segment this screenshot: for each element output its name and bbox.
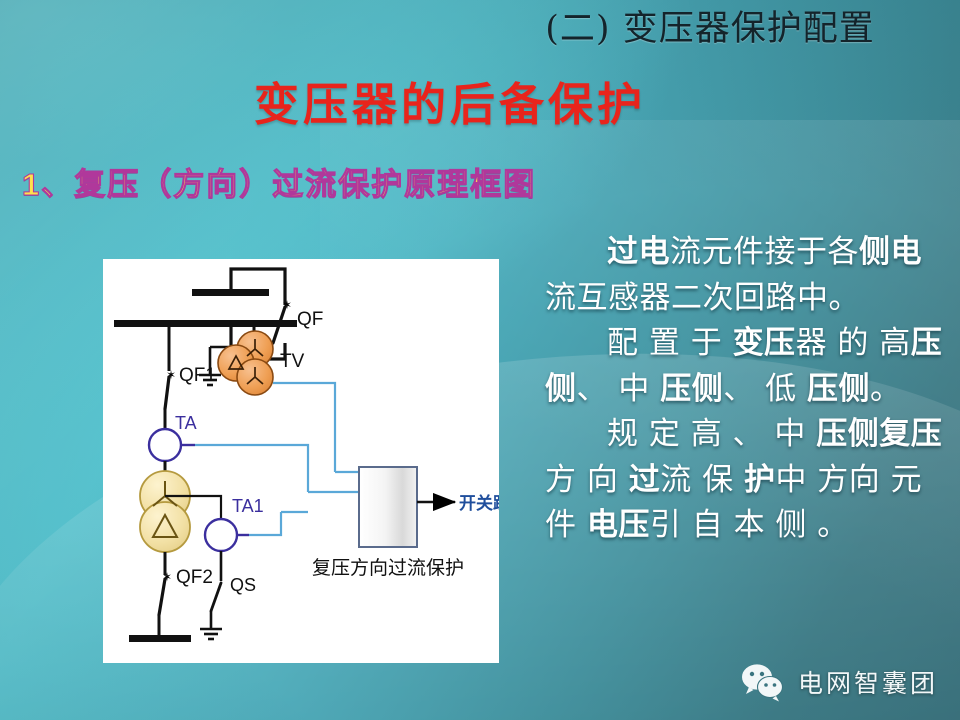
subtitle: 1、复压（方向）过流保护原理框图 [22,168,536,202]
circuit-diagram-panel: ✶ QF [103,259,499,663]
paragraph-3: 规 定 高 、 中 压侧复压方 向 过流 保 护中 方向 元 件 电压引 自 本… [545,412,945,549]
p2-seg3: 器 的 高 [796,325,911,361]
secondary-signal-wiring [195,383,335,535]
ta1-label: TA1 [232,496,264,516]
p1-seg5: 路中。 [766,280,861,316]
qs-ground-symbol [200,629,222,639]
p1-seg4: 流互感器二次回 [545,280,766,316]
power-transformer-symbol [140,471,190,552]
p2-seg1: 配 置 于 [607,325,733,361]
p2-seg10: 。 [870,371,902,407]
p3-seg6: 流 保 [660,462,744,498]
ta-label: TA [175,413,197,433]
paragraph-2: 配 置 于 变压器 的 高压侧、 中 压侧、 低 压侧。 [545,321,945,412]
protection-relay-block [359,467,417,547]
qf1-label: QF1 [179,365,216,386]
upper-busbar [192,289,269,296]
body-text-block: 过电流元件接于各侧电流互感器二次回路中。 配 置 于 变压器 的 高压侧、 中 … [545,230,945,549]
p2-seg8: 压 [807,371,839,407]
p2-seg5: 、 中 [577,371,661,407]
tv-label: TV [280,351,305,372]
p1-seg3: 侧电 [859,234,922,270]
lv-busbar [129,635,191,642]
p2-seg7: 、 低 [723,371,807,407]
p2-seg6: 压侧 [660,371,723,407]
bypass-conductor-top [231,269,285,305]
tv-voltage-transformer-symbol [218,331,273,395]
p3-seg3: 压 [911,416,943,452]
circuit-diagram-svg: ✶ QF [103,259,499,663]
relay-input-bus [308,472,359,512]
qf2-breaker-blade [159,579,165,615]
p1-seg1: 过电 [607,234,670,270]
qf-contact-marker: ✶ [282,298,292,312]
main-busbar [114,320,297,327]
p3-seg7: 护 [744,462,776,498]
wechat-icon [740,662,786,702]
slide-canvas: (二) 变压器保护配置 变压器的后备保护 1、复压（方向）过流保护原理框图 过电… [0,0,960,720]
trip-output-label: 开关跳闸 [459,493,499,514]
p1-seg2: 流元件接于各 [670,234,859,270]
ta1-current-transformer-symbol [205,519,237,551]
footer-logo-text: 电网智囊团 [798,664,938,700]
p2-seg2: 变压 [733,325,796,361]
section-label: (二) 变压器保护配置 [500,10,920,49]
p3-seg1: 规 定 高 、 中 [607,416,816,452]
p3-seg4: 方 向 [545,462,629,498]
paragraph-1: 过电流元件接于各侧电流互感器二次回路中。 [545,230,945,321]
page-title: 变压器的后备保护 [150,80,750,130]
ta-current-transformer-symbol [149,429,181,461]
p3-seg2: 压侧复 [816,416,911,452]
qs-label: QS [230,575,256,595]
protection-box-caption: 复压方向过流保护 [312,557,464,579]
p3-seg5: 过 [629,462,661,498]
qf2-label: QF2 [176,567,213,588]
footer-watermark: 电网智囊团 [740,662,938,702]
p3-seg8: 中 方 [775,462,848,498]
p2-seg9: 侧 [838,371,870,407]
p3-seg11: 引 自 本 侧 。 [650,507,849,543]
qf-label: QF [297,309,323,330]
p3-seg10: 电压 [587,507,650,543]
